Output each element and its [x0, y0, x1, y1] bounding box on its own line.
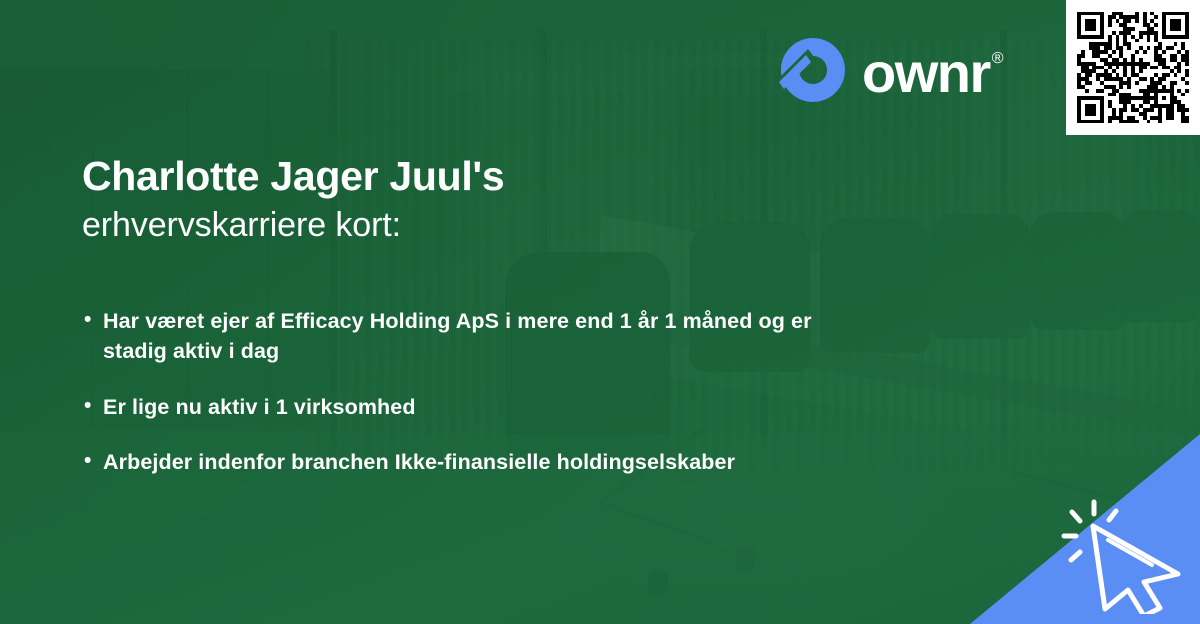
career-summary-list: Har været ejer af Efficacy Holding ApS i…: [82, 306, 942, 478]
page-title: Charlotte Jager Juul's: [82, 152, 942, 200]
ownr-career-card: ownr® Charlotte Jager Juul's erhvervskar…: [0, 0, 1200, 624]
click-cursor-icon: [1060, 496, 1192, 614]
ownr-logo[interactable]: ownr®: [778, 34, 1000, 106]
career-summary-item: Er lige nu aktiv i 1 virksomhed: [82, 392, 823, 423]
qr-code[interactable]: [1077, 12, 1189, 124]
ownr-wordmark: ownr®: [862, 45, 1000, 101]
ownr-wordmark-text: ownr: [862, 41, 990, 104]
page-subtitle: erhvervskarriere kort:: [82, 204, 942, 248]
registered-trademark-symbol: ®: [992, 50, 1002, 67]
career-summary-item: Arbejder indenfor branchen Ikke-finansie…: [82, 447, 823, 478]
career-summary-item: Har været ejer af Efficacy Holding ApS i…: [82, 306, 823, 367]
qr-code-panel[interactable]: [1066, 0, 1200, 135]
content-block: Charlotte Jager Juul's erhvervskarriere …: [82, 152, 942, 503]
ownr-circular-mark-icon: [778, 35, 848, 105]
